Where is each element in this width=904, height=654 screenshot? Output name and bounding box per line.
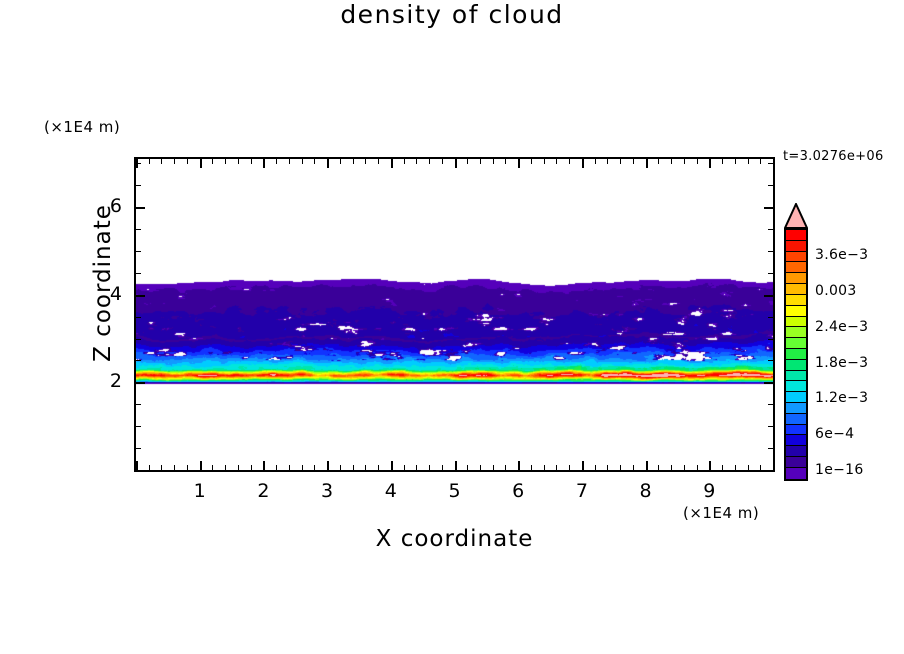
- y-tick-label: 6: [92, 195, 122, 217]
- axis-tick: [697, 465, 698, 470]
- axis-tick: [760, 159, 761, 164]
- colorbar-band: [786, 295, 806, 306]
- x-tick-label: 5: [440, 480, 470, 502]
- page-title: density of cloud: [0, 0, 904, 29]
- axis-tick: [569, 465, 570, 470]
- colorbar-tick-label: 3.6e−3: [815, 247, 868, 263]
- axis-tick: [569, 159, 570, 164]
- x-tick-label: 6: [503, 480, 533, 502]
- colorbar-band: [786, 327, 806, 338]
- axis-tick: [161, 465, 162, 470]
- axis-tick: [302, 465, 303, 470]
- axis-tick: [544, 465, 545, 470]
- colorbar-band: [786, 435, 806, 446]
- axis-tick: [429, 465, 430, 470]
- y-tick-label: 4: [92, 283, 122, 305]
- axis-tick: [136, 229, 141, 230]
- axis-tick: [263, 159, 265, 168]
- colorbar-band: [786, 381, 806, 392]
- x-tick-label: 4: [376, 480, 406, 502]
- axis-tick: [467, 465, 468, 470]
- axis-tick: [760, 465, 761, 470]
- axis-tick: [187, 159, 188, 164]
- colorbar-band: [786, 262, 806, 273]
- colorbar-band: [786, 468, 806, 479]
- axis-tick: [136, 448, 141, 449]
- axis-tick: [416, 465, 417, 470]
- axis-tick: [416, 159, 417, 164]
- colorbar: [784, 228, 808, 481]
- axis-tick: [314, 465, 315, 470]
- x-tick-label: 1: [185, 480, 215, 502]
- colorbar-band: [786, 392, 806, 403]
- axis-tick: [353, 159, 354, 164]
- axis-tick: [646, 461, 648, 470]
- x-tick-label: 2: [248, 480, 278, 502]
- axis-tick: [136, 207, 145, 209]
- axis-tick: [353, 465, 354, 470]
- axis-tick: [200, 159, 202, 168]
- axis-tick: [136, 461, 138, 470]
- axis-tick: [136, 163, 141, 164]
- axis-tick: [174, 465, 175, 470]
- axis-tick: [467, 159, 468, 164]
- colorbar-band: [786, 425, 806, 436]
- y-axis-unit-label: (×1E4 m): [44, 118, 120, 136]
- axis-tick: [136, 339, 141, 340]
- axis-tick: [748, 465, 749, 470]
- axis-tick: [136, 404, 141, 405]
- colorbar-band: [786, 371, 806, 382]
- colorbar-band: [786, 273, 806, 284]
- axis-tick: [136, 470, 145, 472]
- axis-tick: [607, 465, 608, 470]
- colorbar-band: [786, 403, 806, 414]
- colorbar-tick-label: 2.4e−3: [815, 319, 868, 335]
- axis-tick: [556, 465, 557, 470]
- axis-tick: [365, 465, 366, 470]
- density-contour-canvas: [136, 159, 773, 470]
- axis-tick: [442, 465, 443, 470]
- axis-tick: [607, 159, 608, 164]
- axis-tick: [391, 461, 393, 470]
- axis-tick: [455, 461, 457, 470]
- axis-tick: [187, 465, 188, 470]
- axis-tick: [671, 159, 672, 164]
- axis-tick: [531, 159, 532, 164]
- axis-tick: [251, 159, 252, 164]
- axis-tick: [327, 159, 329, 168]
- colorbar-band: [786, 284, 806, 295]
- colorbar-band: [786, 241, 806, 252]
- axis-tick: [302, 159, 303, 164]
- axis-tick: [136, 382, 145, 384]
- axis-tick: [773, 461, 775, 470]
- axis-tick: [391, 159, 393, 168]
- axis-tick: [768, 229, 773, 230]
- colorbar-band: [786, 317, 806, 328]
- axis-tick: [768, 273, 773, 274]
- colorbar-tick-label: 6e−4: [815, 426, 854, 442]
- axis-tick: [276, 159, 277, 164]
- axis-tick: [404, 465, 405, 470]
- axis-tick: [722, 159, 723, 164]
- axis-tick: [442, 159, 443, 164]
- x-axis-title: X coordinate: [262, 526, 647, 552]
- axis-tick: [768, 339, 773, 340]
- x-axis-unit-label: (×1E4 m): [683, 504, 759, 522]
- axis-tick: [212, 465, 213, 470]
- axis-tick: [722, 465, 723, 470]
- colorbar-tick-label: 1.8e−3: [815, 355, 868, 371]
- colorbar-band: [786, 414, 806, 425]
- axis-tick: [136, 317, 141, 318]
- x-tick-label: 3: [312, 480, 342, 502]
- colorbar-tick-label: 1e−16: [815, 462, 864, 478]
- axis-tick: [480, 465, 481, 470]
- axis-tick: [735, 465, 736, 470]
- axis-tick: [493, 465, 494, 470]
- axis-tick: [768, 251, 773, 252]
- axis-tick: [582, 159, 584, 168]
- axis-tick: [174, 159, 175, 164]
- colorbar-over-arrow: [784, 203, 808, 229]
- axis-tick: [378, 465, 379, 470]
- axis-tick: [620, 465, 621, 470]
- plot-area: [134, 157, 775, 472]
- axis-tick: [455, 159, 457, 168]
- axis-tick: [768, 448, 773, 449]
- axis-tick: [263, 461, 265, 470]
- axis-tick: [595, 465, 596, 470]
- axis-tick: [531, 465, 532, 470]
- axis-tick: [658, 465, 659, 470]
- axis-tick: [735, 159, 736, 164]
- axis-tick: [225, 465, 226, 470]
- axis-tick: [365, 159, 366, 164]
- axis-tick: [136, 251, 141, 252]
- axis-tick: [518, 159, 520, 168]
- axis-tick: [136, 360, 141, 361]
- axis-tick: [276, 465, 277, 470]
- axis-tick: [149, 159, 150, 164]
- axis-tick: [633, 159, 634, 164]
- axis-tick: [314, 159, 315, 164]
- x-tick-label: 9: [694, 480, 724, 502]
- axis-tick: [684, 159, 685, 164]
- axis-tick: [768, 185, 773, 186]
- axis-tick: [556, 159, 557, 164]
- axis-tick: [620, 159, 621, 164]
- axis-tick: [340, 465, 341, 470]
- axis-tick: [768, 317, 773, 318]
- axis-tick: [697, 159, 698, 164]
- axis-tick: [136, 426, 141, 427]
- axis-tick: [289, 465, 290, 470]
- y-tick-label: 2: [92, 370, 122, 392]
- axis-tick: [518, 461, 520, 470]
- axis-tick: [709, 159, 711, 168]
- axis-tick: [289, 159, 290, 164]
- axis-tick: [773, 159, 775, 168]
- colorbar-band: [786, 457, 806, 468]
- colorbar-band: [786, 306, 806, 317]
- axis-tick: [768, 163, 773, 164]
- axis-tick: [480, 159, 481, 164]
- x-tick-label: 8: [631, 480, 661, 502]
- axis-tick: [764, 382, 773, 384]
- axis-tick: [327, 461, 329, 470]
- colorbar-band: [786, 252, 806, 263]
- colorbar-band: [786, 360, 806, 371]
- axis-tick: [404, 159, 405, 164]
- axis-tick: [764, 470, 773, 472]
- time-annotation: t=3.0276e+06: [783, 149, 884, 164]
- axis-tick: [684, 465, 685, 470]
- axis-tick: [238, 159, 239, 164]
- axis-tick: [709, 461, 711, 470]
- axis-tick: [505, 159, 506, 164]
- axis-tick: [505, 465, 506, 470]
- axis-tick: [748, 159, 749, 164]
- axis-tick: [493, 159, 494, 164]
- axis-tick: [633, 465, 634, 470]
- axis-tick: [378, 159, 379, 164]
- axis-tick: [251, 465, 252, 470]
- x-tick-label: 7: [567, 480, 597, 502]
- colorbar-tick-label: 1.2e−3: [815, 390, 868, 406]
- axis-tick: [764, 295, 773, 297]
- axis-tick: [149, 465, 150, 470]
- contour-field: [136, 159, 773, 470]
- axis-tick: [429, 159, 430, 164]
- axis-tick: [658, 159, 659, 164]
- axis-tick: [646, 159, 648, 168]
- axis-tick: [340, 159, 341, 164]
- axis-tick: [136, 295, 145, 297]
- axis-tick: [136, 273, 141, 274]
- axis-tick: [238, 465, 239, 470]
- axis-tick: [544, 159, 545, 164]
- axis-tick: [212, 159, 213, 164]
- colorbar-band: [786, 338, 806, 349]
- axis-tick: [200, 461, 202, 470]
- axis-tick: [768, 404, 773, 405]
- axis-tick: [764, 207, 773, 209]
- axis-tick: [136, 185, 141, 186]
- axis-tick: [768, 360, 773, 361]
- axis-tick: [768, 426, 773, 427]
- axis-tick: [582, 461, 584, 470]
- axis-tick: [595, 159, 596, 164]
- colorbar-band: [786, 446, 806, 457]
- colorbar-tick-label: 0.003: [815, 283, 857, 299]
- colorbar-band: [786, 230, 806, 241]
- axis-tick: [225, 159, 226, 164]
- axis-tick: [671, 465, 672, 470]
- colorbar-band: [786, 349, 806, 360]
- axis-tick: [161, 159, 162, 164]
